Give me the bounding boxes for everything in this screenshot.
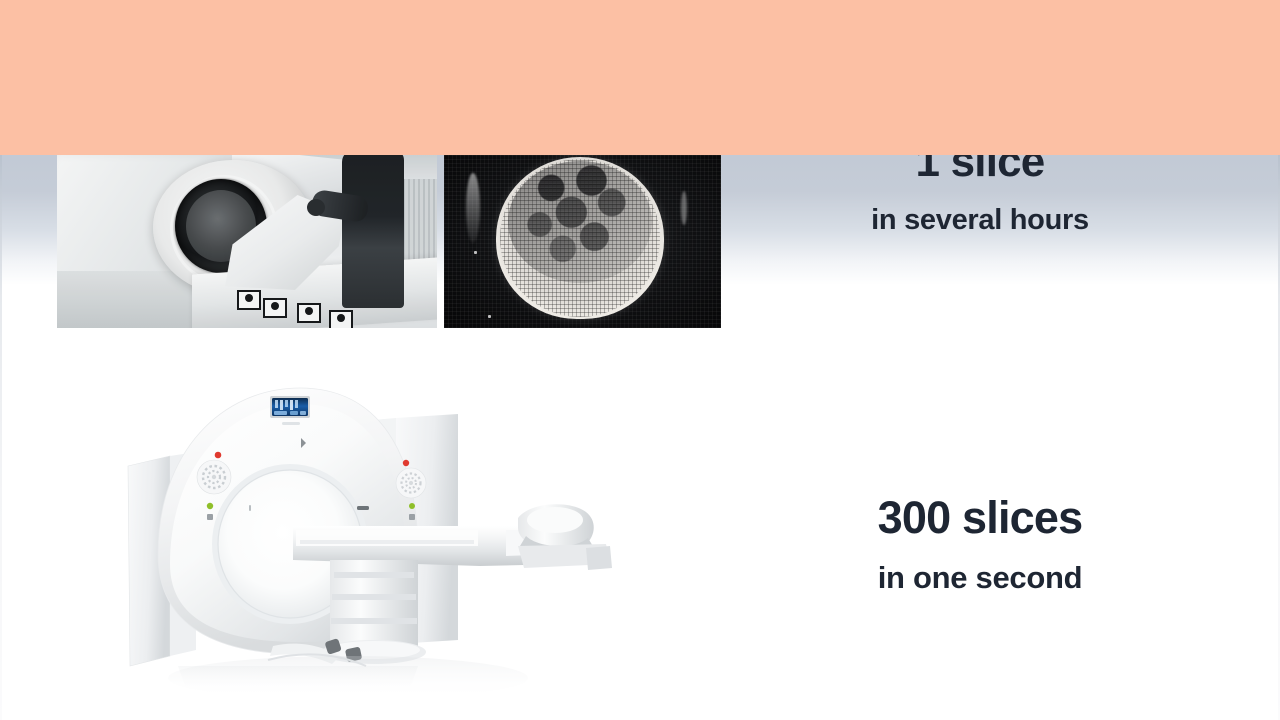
gantry-vent: [357, 506, 369, 510]
floor-reflection: [168, 656, 528, 700]
photo-grayscale-filter: [57, 155, 437, 328]
image-vintage-ct-scanner: [57, 155, 437, 328]
indicator-gray: [409, 514, 415, 520]
stat-new-headline: 300 slices: [830, 495, 1130, 540]
gantry-marker: [249, 505, 251, 511]
slide-stage: 1 slice in several hours 300 slices in o…: [0, 0, 1280, 720]
indicator-gray: [207, 514, 213, 520]
speaker-grille-left: [197, 460, 231, 494]
indicator-green: [207, 503, 213, 509]
speaker-grille-right: [396, 468, 426, 498]
table-headrest: [518, 504, 612, 570]
stat-new-era: 300 slices in one second: [830, 495, 1130, 593]
image-modern-ct-scanner: [118, 378, 648, 708]
peach-overlay-bar: [0, 0, 1280, 155]
image-early-brain-ct-scan: [444, 155, 721, 328]
scan-pixel-grid: [444, 155, 721, 328]
indicator-green: [409, 503, 415, 509]
left-edge-shade: [0, 155, 2, 720]
indicator-red: [403, 460, 409, 466]
stat-old-sub: in several hours: [830, 206, 1130, 235]
indicator-red: [215, 452, 222, 459]
stat-new-sub: in one second: [830, 562, 1130, 593]
